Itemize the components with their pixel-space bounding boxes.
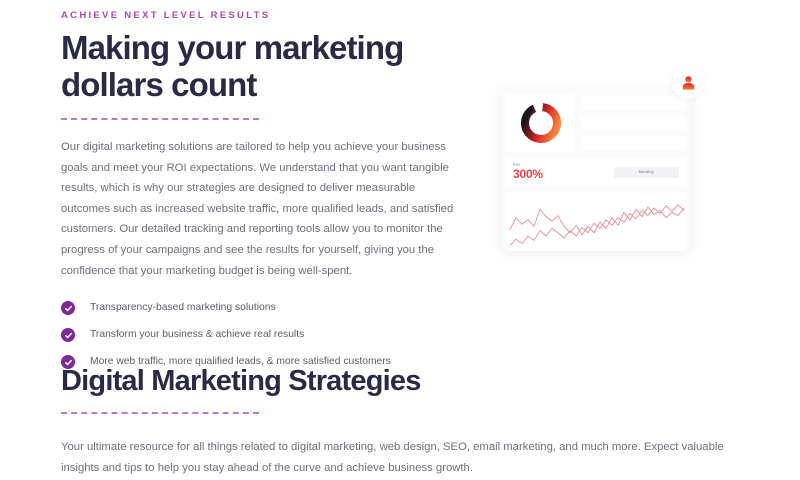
check-circle-icon <box>61 301 75 315</box>
placeholder-rows <box>581 94 686 152</box>
roi-value: 300% <box>513 168 543 180</box>
period-filter-button[interactable]: Monthly <box>614 167 679 178</box>
user-avatar[interactable] <box>672 67 704 99</box>
donut-chart-card <box>506 94 575 152</box>
line-series-b <box>510 205 684 246</box>
roi-stat-row: ROI 300% Monthly <box>506 158 686 186</box>
checklist-item-label: Transparency-based marketing solutions <box>90 302 276 314</box>
feature-checklist: Transparency-based marketing solutions T… <box>61 301 481 369</box>
line-chart-card <box>506 192 686 251</box>
donut-chart-icon <box>518 100 564 146</box>
section-divider <box>61 412 259 414</box>
placeholder-row <box>581 116 686 130</box>
line-chart <box>506 192 686 251</box>
hero-content: ACHIEVE NEXT LEVEL RESULTS Making your m… <box>61 10 481 382</box>
placeholder-row <box>581 96 686 110</box>
check-circle-icon <box>61 328 75 342</box>
placeholder-row <box>581 136 686 150</box>
roi-stat: ROI 300% <box>513 164 543 181</box>
section-digital-marketing: Digital Marketing Strategies Your ultima… <box>61 366 751 479</box>
hero-divider <box>61 118 259 120</box>
dashboard-top-row <box>506 94 686 152</box>
page-title: Making your marketing dollars count <box>61 30 481 104</box>
hero-body-text: Our digital marketing solutions are tail… <box>61 137 461 281</box>
dashboard-illustration: ROI 300% Monthly <box>500 88 692 251</box>
list-item: Transparency-based marketing solutions <box>61 301 481 315</box>
checklist-item-label: Transform your business & achieve real r… <box>90 329 304 341</box>
page-title-line-2: dollars count <box>61 66 257 103</box>
list-item: Transform your business & achieve real r… <box>61 328 481 342</box>
hero-eyebrow: ACHIEVE NEXT LEVEL RESULTS <box>61 10 481 21</box>
page-title-line-1: Making your marketing <box>61 29 403 66</box>
user-avatar-icon <box>682 76 695 90</box>
section-title: Digital Marketing Strategies <box>61 366 751 398</box>
section-body-text: Your ultimate resource for all things re… <box>61 437 726 479</box>
page-root: ACHIEVE NEXT LEVEL RESULTS Making your m… <box>0 0 800 480</box>
